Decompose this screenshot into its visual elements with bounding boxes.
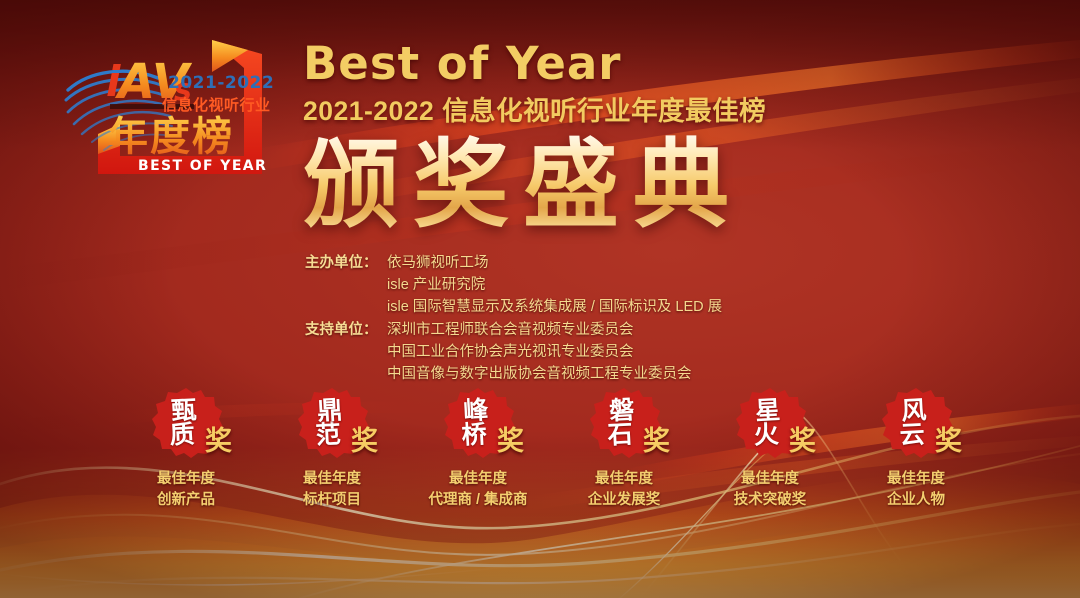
award-seal-char-2: 火: [754, 422, 780, 447]
award-label-line2: 技术突破奖: [734, 490, 807, 511]
english-title: Best of Year: [303, 40, 1043, 87]
headline-block: Best of Year 2021-2022 信息化视听行业年度最佳榜 颁奖盛典: [303, 40, 1043, 240]
award-label: 最佳年度 企业发展奖: [588, 469, 661, 510]
award-label-line1: 最佳年度: [887, 469, 945, 490]
credit-line: isle 产业研究院: [387, 274, 722, 296]
award-seal-char-1: 风: [901, 398, 927, 423]
award-seal-char-2: 石: [608, 422, 634, 447]
award-label-line2: 创新产品: [157, 490, 215, 511]
logo-english: BEST OF YEAR: [138, 158, 267, 174]
award-label-line1: 最佳年度: [157, 469, 215, 490]
event-logo: i AV s 2021-2022 信息化视听行业 年度榜 BEST OF YEA…: [62, 26, 280, 186]
award-seal: 甄 质 奖: [148, 386, 224, 460]
award-seal-suffix: 奖: [205, 419, 232, 458]
award-label-line1: 最佳年度: [734, 469, 807, 490]
award-seal-suffix: 奖: [789, 419, 816, 458]
logo-rank-title: 年度榜: [108, 114, 234, 160]
logo-years: 2021-2022: [168, 73, 274, 93]
credit-label: 主办单位：: [305, 252, 387, 319]
award-seal-char-1: 甄: [171, 398, 197, 423]
award-seal-char-1: 星: [755, 398, 781, 423]
award-seal-char-2: 桥: [462, 422, 488, 447]
award-label-line1: 最佳年度: [428, 469, 527, 490]
award-seal-suffix: 奖: [935, 419, 962, 458]
award-item-panshi: 磐 石 奖 最佳年度 企业发展奖: [570, 386, 678, 510]
ceremony-title: 颁奖盛典: [303, 132, 1043, 240]
award-label-line2: 企业人物: [887, 490, 945, 511]
award-seal-characters: 星 火: [752, 398, 779, 447]
award-seal-characters: 风 云: [898, 398, 925, 447]
credit-line: 依马狮视听工场: [387, 252, 722, 274]
award-seal-characters: 鼎 范: [314, 398, 341, 447]
award-item-zhenzhi: 甄 质 奖 最佳年度 创新产品: [132, 386, 240, 510]
award-label: 最佳年度 企业人物: [887, 469, 945, 510]
award-label-line2: 企业发展奖: [588, 490, 661, 511]
award-label: 最佳年度 代理商 / 集成商: [428, 469, 527, 510]
award-ceremony-poster: i AV s 2021-2022 信息化视听行业 年度榜 BEST OF YEA…: [0, 0, 1080, 598]
award-category-list: 甄 质 奖 最佳年度 创新产品 鼎 范 奖: [0, 386, 1080, 510]
credit-supporters: 支持单位： 深圳市工程师联合会音视频专业委员会 中国工业合作协会声光视讯专业委员…: [305, 319, 722, 386]
award-seal-char-1: 峰: [463, 398, 489, 423]
credit-line: isle 国际智慧显示及系统集成展 / 国际标识及 LED 展: [387, 296, 722, 318]
award-seal: 磐 石 奖: [586, 386, 662, 460]
award-item-fengqiao: 峰 桥 奖 最佳年度 代理商 / 集成商: [424, 386, 532, 510]
subtitle: 2021-2022 信息化视听行业年度最佳榜: [303, 89, 1043, 128]
award-seal: 星 火 奖: [732, 386, 808, 460]
award-seal-characters: 磐 石: [606, 398, 633, 447]
award-label-line2: 代理商 / 集成商: [428, 490, 527, 511]
award-label: 最佳年度 技术突破奖: [734, 469, 807, 510]
logo-industry: 信息化视听行业: [162, 96, 271, 114]
award-label-line1: 最佳年度: [303, 469, 361, 490]
award-seal: 峰 桥 奖: [440, 386, 516, 460]
award-seal-char-2: 范: [316, 422, 342, 447]
award-seal-char-1: 鼎: [317, 398, 343, 423]
credit-line: 深圳市工程师联合会音视频专业委员会: [387, 319, 692, 341]
credits-block: 主办单位： 依马狮视听工场 isle 产业研究院 isle 国际智慧显示及系统集…: [305, 252, 722, 385]
award-seal-char-2: 质: [170, 422, 196, 447]
award-item-fengyun: 风 云 奖 最佳年度 企业人物: [862, 386, 970, 510]
award-seal-suffix: 奖: [643, 419, 670, 458]
award-label: 最佳年度 创新产品: [157, 469, 215, 510]
award-item-xinghuo: 星 火 奖 最佳年度 技术突破奖: [716, 386, 824, 510]
credit-line: 中国工业合作协会声光视讯专业委员会: [387, 341, 692, 363]
credit-label: 支持单位：: [305, 319, 387, 386]
award-seal-suffix: 奖: [351, 419, 378, 458]
award-seal-characters: 甄 质: [168, 398, 195, 447]
credit-organizers: 主办单位： 依马狮视听工场 isle 产业研究院 isle 国际智慧显示及系统集…: [305, 252, 722, 319]
award-seal-char-2: 云: [900, 422, 926, 447]
credit-line: 中国音像与数字出版协会音视频工程专业委员会: [387, 363, 692, 385]
award-seal-char-1: 磐: [609, 398, 635, 423]
award-label: 最佳年度 标杆项目: [303, 469, 361, 510]
award-label-line1: 最佳年度: [588, 469, 661, 490]
award-label-line2: 标杆项目: [303, 490, 361, 511]
award-seal: 鼎 范 奖: [294, 386, 370, 460]
award-seal-suffix: 奖: [497, 419, 524, 458]
award-seal: 风 云 奖: [878, 386, 954, 460]
award-item-dingfan: 鼎 范 奖 最佳年度 标杆项目: [278, 386, 386, 510]
award-seal-characters: 峰 桥: [460, 398, 487, 447]
